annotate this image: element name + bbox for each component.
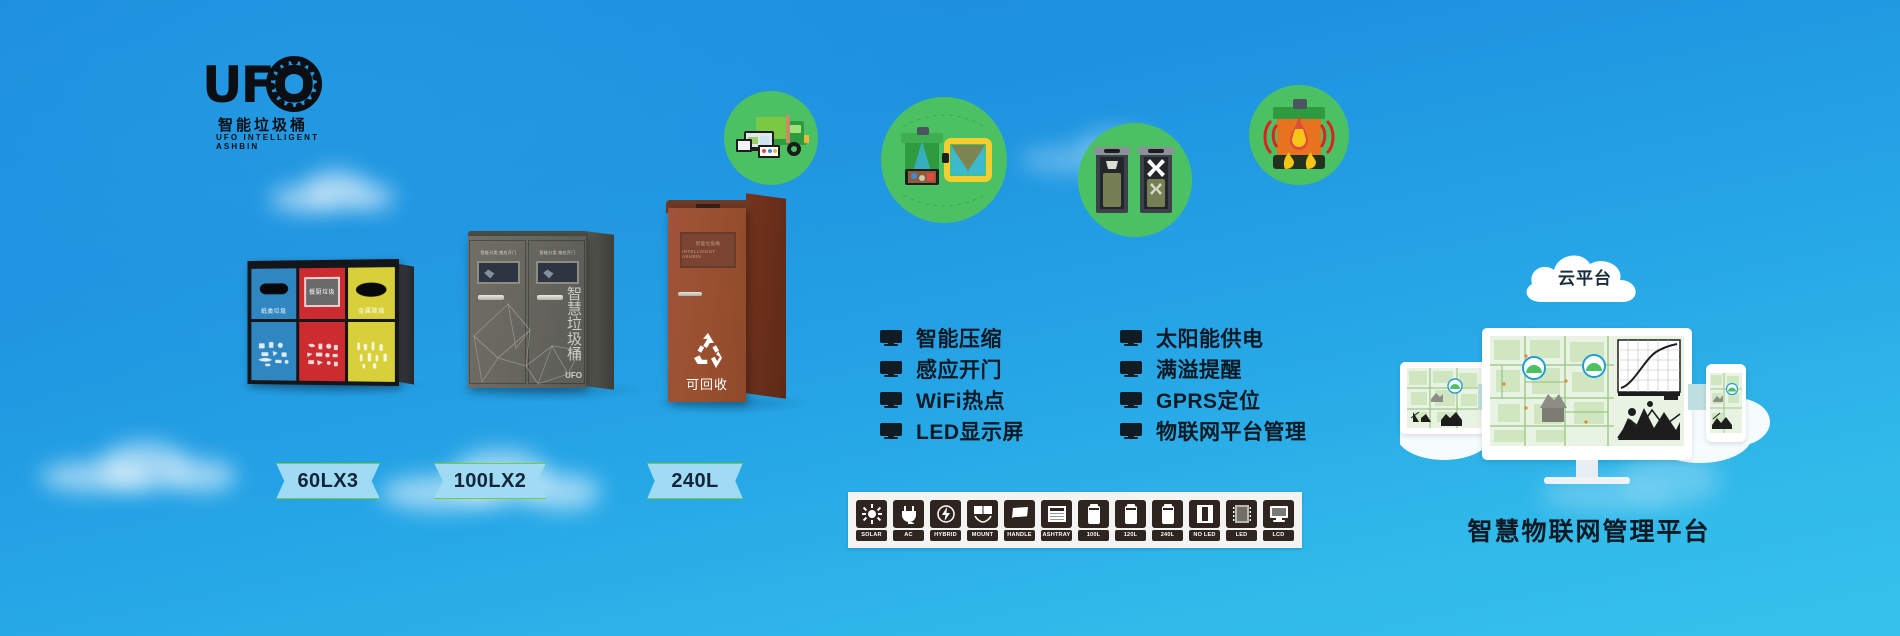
feature-item: 智能压缩 <box>880 322 1024 353</box>
desktop-monitor[interactable] <box>1482 328 1692 460</box>
recycle-label: 可回收 <box>668 374 746 393</box>
feature-label: 感应开门 <box>916 354 1002 384</box>
bin-window-display <box>536 261 579 284</box>
dashboard-content <box>1490 336 1684 446</box>
compartment-graphic <box>299 322 345 381</box>
city-map <box>1710 373 1742 433</box>
brand-logo: UFO 智能垃圾桶 UFO INTELLIGENT ASHBIN <box>202 52 320 150</box>
bin-slot-opening <box>356 283 387 297</box>
bin-body: 智能分类 感应开门 智能分类 感应开门 智慧垃圾桶 UFO <box>468 236 586 388</box>
lcd-screen-icon <box>1263 500 1294 528</box>
monitor-icon <box>880 423 902 439</box>
capacity-label-240l: 240L <box>647 463 743 499</box>
led-panel-icon <box>1226 500 1257 528</box>
feature-item: 感应开门 <box>880 353 1024 384</box>
bin-side-text: 智慧垃圾桶 <box>564 286 582 361</box>
bin-side-panel <box>746 193 786 399</box>
cloud-platform-badge: 云平台 <box>1520 244 1650 310</box>
spec-icon-strip: SOLAR AC HYBRID MOUNT <box>848 492 1302 548</box>
monitor-neck <box>1576 460 1598 478</box>
tablet-screen <box>1407 368 1481 428</box>
bin-brand-mark: UFO <box>565 371 582 380</box>
banner-canvas: UFO 智能垃圾桶 UFO INTELLIGENT ASHBIN 纸类垃圾 <box>0 0 1900 636</box>
compartment-metal-glass: 金属玻璃 <box>348 267 395 382</box>
spec-ac[interactable]: AC <box>893 500 924 541</box>
ashtray-icon <box>1041 500 1072 528</box>
kitchen-waste-icon <box>303 335 341 374</box>
monitor-icon <box>880 361 902 377</box>
screen-line-2: INTELLIGENT ASHBIN <box>682 249 734 259</box>
spec-label: 240L <box>1152 530 1183 541</box>
feature-column-left: 智能压缩 感应开门 WiFi热点 LED显示屏 <box>880 322 1024 446</box>
monitor-icon <box>880 330 902 346</box>
no-led-icon <box>1189 500 1220 528</box>
bin-display-screen: 智能垃圾桶 INTELLIGENT ASHBIN <box>680 232 736 268</box>
iot-platform-illustration: 云平台 <box>1400 244 1780 494</box>
paper-waste-icon <box>255 335 293 374</box>
spec-label: HANDLE <box>1004 530 1035 541</box>
circle-fleet-management <box>724 91 818 185</box>
spec-label: 100L <box>1078 530 1109 541</box>
monitor-base <box>1544 477 1630 484</box>
bin-120l-icon <box>1115 500 1146 528</box>
monitor-icon <box>880 392 902 408</box>
feature-item: WiFi热点 <box>880 384 1024 415</box>
feature-label: 满溢提醒 <box>1156 354 1242 384</box>
spec-label: ASHTRAY <box>1041 530 1072 541</box>
feature-label: 智能压缩 <box>916 323 1002 353</box>
spec-label: SOLAR <box>856 530 887 541</box>
feature-label: WiFi热点 <box>916 385 1005 415</box>
feature-item: 太阳能供电 <box>1120 322 1307 353</box>
cloud-decoration <box>260 160 400 220</box>
spec-solar[interactable]: SOLAR <box>856 500 887 541</box>
spec-label: MOUNT <box>967 530 998 541</box>
plug-icon <box>893 500 924 528</box>
circle-fire-alarm <box>1249 85 1349 185</box>
bin-three-compartment: 纸类垃圾 <box>246 260 398 385</box>
compartment-label: 餐厨垃圾 <box>309 287 335 296</box>
hybrid-power-icon <box>930 500 961 528</box>
spec-100l[interactable]: 100L <box>1078 500 1109 541</box>
compartment-display: 餐厨垃圾 <box>304 277 341 307</box>
spec-label: HYBRID <box>930 530 961 541</box>
cloud-platform-label: 云平台 <box>1520 264 1650 289</box>
compartment-top: 金属玻璃 <box>348 267 395 319</box>
monitor-icon <box>1120 361 1142 377</box>
bin-240l-icon <box>1152 500 1183 528</box>
monitor-icon <box>1120 423 1142 439</box>
platform-caption: 智慧物联网管理平台 <box>1424 512 1754 548</box>
bin-side-panel <box>586 231 614 389</box>
bin-slot-opening <box>260 284 288 295</box>
bin-100l-icon <box>1078 500 1109 528</box>
spec-led[interactable]: LED <box>1226 500 1257 541</box>
compacted-bin-icon <box>1078 123 1192 237</box>
screen-line-1: 智能垃圾桶 <box>696 241 721 247</box>
capacity-label-60lx3: 60LX3 <box>276 463 380 499</box>
bin-window-display <box>477 261 520 284</box>
feature-column-right: 太阳能供电 满溢提醒 GPRS定位 物联网平台管理 <box>1120 322 1307 446</box>
handle-icon <box>1004 500 1035 528</box>
feature-item: 满溢提醒 <box>1120 353 1307 384</box>
feature-list: 智能压缩 感应开门 WiFi热点 LED显示屏 太阳能供电 满溢提醒 <box>880 322 1307 446</box>
door-handle[interactable] <box>678 292 702 296</box>
sun-icon <box>856 500 887 528</box>
spec-handle[interactable]: HANDLE <box>1004 500 1035 541</box>
compartment-label: 纸类垃圾 <box>251 306 296 315</box>
door-panel-label: 智能分类 感应开门 <box>477 250 520 256</box>
spec-lcd[interactable]: LCD <box>1263 500 1294 541</box>
spec-label: LED <box>1226 530 1257 541</box>
spec-no-led[interactable]: NO LED <box>1189 500 1220 541</box>
feature-label: GPRS定位 <box>1156 385 1261 415</box>
compartment-top: 餐厨垃圾 <box>299 268 345 319</box>
logo-chinese-name: 智能垃圾桶 <box>218 114 308 135</box>
circle-bag-compression <box>1078 123 1192 237</box>
compartment-label: 金属玻璃 <box>348 306 395 315</box>
compartment-top: 纸类垃圾 <box>251 268 296 319</box>
bearing-balls-icon <box>266 56 322 112</box>
capacity-label-100lx2: 100LX2 <box>434 463 546 499</box>
door-panel-label: 智能分类 感应开门 <box>536 250 579 256</box>
spec-240l[interactable]: 240L <box>1152 500 1183 541</box>
spec-hybrid[interactable]: HYBRID <box>930 500 961 541</box>
spec-ashtray[interactable]: ASHTRAY <box>1041 500 1072 541</box>
spec-120l[interactable]: 120L <box>1115 500 1146 541</box>
compartment-paper: 纸类垃圾 <box>251 268 296 380</box>
garbage-truck-icon <box>724 91 818 185</box>
compartment-graphic <box>251 322 296 381</box>
spec-mount[interactable]: MOUNT <box>967 500 998 541</box>
feature-label: 物联网平台管理 <box>1156 416 1307 446</box>
spec-label: NO LED <box>1189 530 1220 541</box>
logo-english-name: UFO INTELLIGENT ASHBIN <box>216 133 320 151</box>
phone-screen <box>1710 373 1742 433</box>
monitor-icon <box>1120 330 1142 346</box>
spec-label: 120L <box>1115 530 1146 541</box>
compartment-graphic <box>348 322 395 382</box>
feature-item: 物联网平台管理 <box>1120 415 1307 446</box>
feature-label: LED显示屏 <box>916 416 1024 446</box>
monitor-screen <box>1490 336 1684 446</box>
circle-fill-level-sensor <box>881 97 1007 223</box>
tablet-device[interactable] <box>1400 362 1488 434</box>
feature-item: GPRS定位 <box>1120 384 1307 415</box>
feature-label: 太阳能供电 <box>1156 323 1264 353</box>
spec-label: LCD <box>1263 530 1294 541</box>
spec-label: AC <box>893 530 924 541</box>
bin-double-smart: 智能分类 感应开门 智能分类 感应开门 智慧垃圾桶 UFO <box>468 236 614 388</box>
monitor-icon <box>1120 392 1142 408</box>
wall-mount-icon <box>967 500 998 528</box>
phone-connector <box>1688 384 1708 410</box>
bin-body: 纸类垃圾 <box>248 259 399 386</box>
feature-item: LED显示屏 <box>880 415 1024 446</box>
city-map <box>1407 368 1481 428</box>
metal-glass-waste-icon <box>352 335 391 375</box>
recycle-icon <box>688 330 728 370</box>
smartphone-device[interactable] <box>1706 364 1746 442</box>
bin-sensor-icon <box>881 97 1007 223</box>
bin-brown-recycle: 智能垃圾桶 INTELLIGENT ASHBIN 可回收 <box>668 198 786 402</box>
cloud-decoration <box>40 430 240 500</box>
bin-body: 智能垃圾桶 INTELLIGENT ASHBIN 可回收 <box>668 208 746 402</box>
compartment-kitchen: 餐厨垃圾 <box>299 268 345 382</box>
fire-alarm-bin-icon <box>1249 85 1349 185</box>
